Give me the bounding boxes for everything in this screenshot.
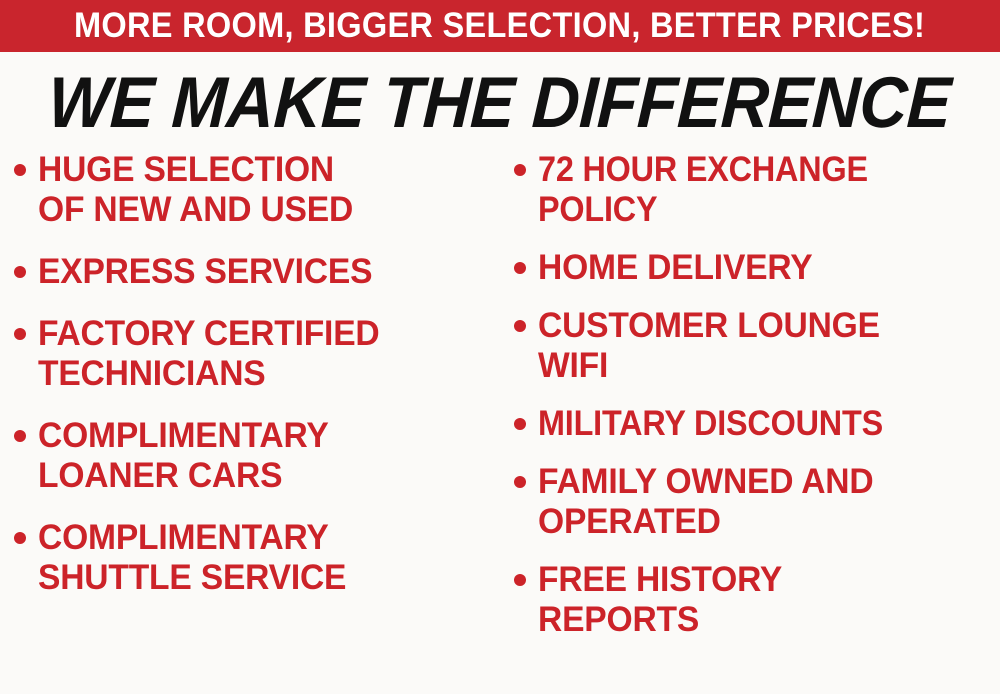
list-item-label: EXPRESS SERVICES [38, 252, 372, 292]
list-item: FAMILY OWNED AND OPERATED [514, 462, 1000, 542]
list-item-label: FAMILY OWNED AND OPERATED [538, 462, 873, 542]
bullet-dot-icon [514, 574, 526, 586]
features-column-left: HUGE SELECTION OF NEW AND USED EXPRESS S… [0, 150, 500, 620]
list-item-label: HOME DELIVERY [538, 248, 812, 288]
list-item: HOME DELIVERY [514, 248, 1000, 288]
bullet-dot-icon [514, 164, 526, 176]
list-item: MILITARY DISCOUNTS [514, 404, 1000, 444]
list-item-label: FACTORY CERTIFIED TECHNICIANS [38, 314, 379, 394]
list-item-label: 72 HOUR EXCHANGE POLICY [538, 150, 868, 230]
list-item: CUSTOMER LOUNGE WIFI [514, 306, 1000, 386]
list-item: HUGE SELECTION OF NEW AND USED [14, 150, 496, 230]
list-item: 72 HOUR EXCHANGE POLICY [514, 150, 1000, 230]
list-item-label: COMPLIMENTARY LOANER CARS [38, 416, 329, 496]
bullet-dot-icon [514, 262, 526, 274]
list-item: COMPLIMENTARY SHUTTLE SERVICE [14, 518, 496, 598]
list-item: EXPRESS SERVICES [14, 252, 496, 292]
list-item-label: FREE HISTORY REPORTS [538, 560, 782, 640]
list-item-label: CUSTOMER LOUNGE WIFI [538, 306, 880, 386]
bullet-dot-icon [14, 430, 26, 442]
list-item: COMPLIMENTARY LOANER CARS [14, 416, 496, 496]
list-item: FACTORY CERTIFIED TECHNICIANS [14, 314, 496, 394]
bullet-dot-icon [14, 266, 26, 278]
promotional-banner: MORE ROOM, BIGGER SELECTION, BETTER PRIC… [0, 0, 1000, 694]
features-column-right: 72 HOUR EXCHANGE POLICY HOME DELIVERY CU… [500, 150, 1000, 658]
list-item-label: HUGE SELECTION OF NEW AND USED [38, 150, 353, 230]
features-columns: HUGE SELECTION OF NEW AND USED EXPRESS S… [0, 150, 1000, 690]
top-tagline-band: MORE ROOM, BIGGER SELECTION, BETTER PRIC… [0, 0, 1000, 52]
bullet-dot-icon [14, 532, 26, 544]
bullet-dot-icon [514, 418, 526, 430]
bullet-dot-icon [14, 328, 26, 340]
headline-container: WE MAKE THE DIFFERENCE [0, 62, 1000, 144]
tagline-text: MORE ROOM, BIGGER SELECTION, BETTER PRIC… [74, 8, 925, 44]
list-item: FREE HISTORY REPORTS [514, 560, 1000, 640]
list-item-label: MILITARY DISCOUNTS [538, 404, 883, 444]
list-item-label: COMPLIMENTARY SHUTTLE SERVICE [38, 518, 346, 598]
bullet-dot-icon [514, 476, 526, 488]
page-title: WE MAKE THE DIFFERENCE [47, 65, 953, 141]
bullet-dot-icon [14, 164, 26, 176]
bullet-dot-icon [514, 320, 526, 332]
